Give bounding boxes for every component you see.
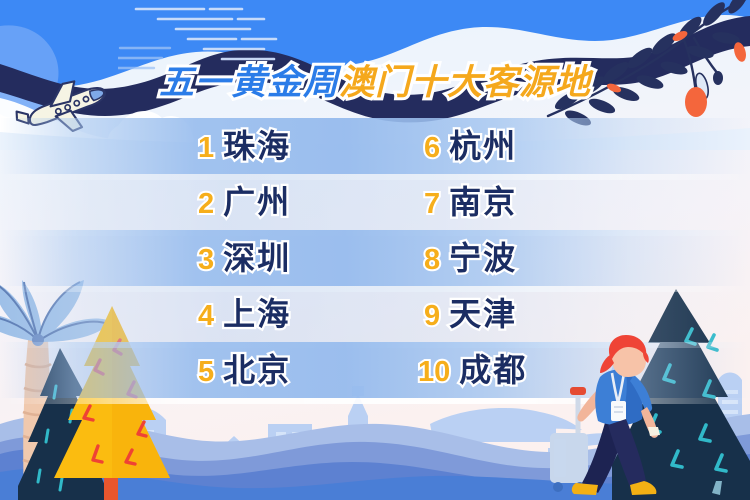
row-band xyxy=(0,174,750,230)
rank-entry-8[interactable]: 8 宁波 xyxy=(424,242,517,275)
infographic-poster: 五一黄金周澳门十大客源地 1 珠海 6 杭州 2 广州 7 南京 xyxy=(0,0,750,500)
rank-entry-1[interactable]: 1 珠海 xyxy=(198,130,291,163)
rank-entry-5[interactable]: 5 北京 xyxy=(198,354,291,387)
row-band xyxy=(0,230,750,286)
city-name: 珠海 xyxy=(223,130,291,162)
rank-entry-2[interactable]: 2 广州 xyxy=(198,186,291,219)
rank-number: 3 xyxy=(198,246,214,275)
walking-traveler-icon xyxy=(548,315,678,500)
city-name: 宁波 xyxy=(449,242,517,274)
rank-entry-10[interactable]: 10 成都 xyxy=(418,354,527,387)
rank-number: 8 xyxy=(424,246,440,275)
rank-entry-6[interactable]: 6 杭州 xyxy=(424,130,517,163)
rank-number: 6 xyxy=(424,134,440,163)
city-name: 广州 xyxy=(223,186,291,218)
rank-entry-3[interactable]: 3 深圳 xyxy=(198,242,291,275)
city-name: 杭州 xyxy=(449,130,517,162)
row-band xyxy=(0,118,750,174)
city-name: 上海 xyxy=(223,298,291,330)
list-item[interactable]: 3 深圳 8 宁波 xyxy=(0,230,750,286)
city-name: 天津 xyxy=(449,298,517,330)
rank-entry-9[interactable]: 9 天津 xyxy=(424,298,517,331)
rank-entry-4[interactable]: 4 上海 xyxy=(198,298,291,331)
suitcase-icon xyxy=(550,387,588,492)
list-item[interactable]: 1 珠海 6 杭州 xyxy=(0,118,750,174)
rank-number: 1 xyxy=(198,134,214,163)
list-item[interactable]: 2 广州 7 南京 xyxy=(0,174,750,230)
rank-number: 10 xyxy=(418,358,450,387)
rank-number: 9 xyxy=(424,302,440,331)
city-name: 深圳 xyxy=(223,242,291,274)
title-segment-yellow: 澳门十大客源地 xyxy=(339,63,591,102)
rank-number: 2 xyxy=(198,190,214,219)
rank-number: 4 xyxy=(198,302,214,331)
page-title: 五一黄金周澳门十大客源地 xyxy=(0,54,750,105)
city-name: 成都 xyxy=(459,354,527,386)
rank-number: 7 xyxy=(424,190,440,219)
rank-number: 5 xyxy=(198,358,214,387)
title-segment-blue: 五一黄金周 xyxy=(159,63,339,102)
rank-entry-7[interactable]: 7 南京 xyxy=(424,186,517,219)
city-name: 南京 xyxy=(449,186,517,218)
city-name: 北京 xyxy=(223,354,291,386)
